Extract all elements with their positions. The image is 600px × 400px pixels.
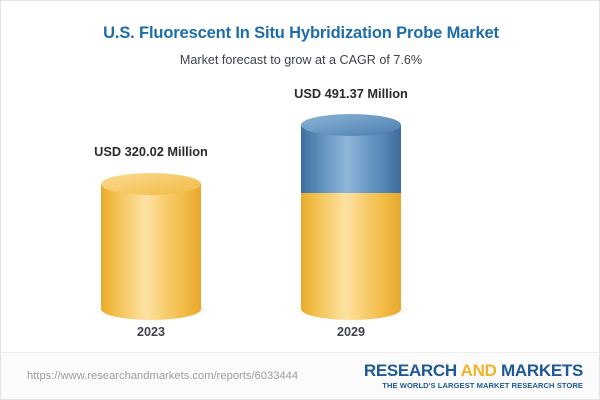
bar-value-label-2023: USD 320.02 Million — [76, 144, 226, 159]
logo-tagline: THE WORLD'S LARGEST MARKET RESEARCH STOR… — [364, 381, 583, 391]
bar-value-label-2029: USD 491.37 Million — [276, 86, 426, 101]
cylinder-base-ellipse-2023 — [101, 308, 201, 320]
cylinder-body-yellow-2029 — [301, 193, 401, 309]
cylinder-top-cap-2023 — [101, 173, 201, 195]
logo-word-markets: MARKETS — [501, 361, 583, 380]
cylinder-base-clip-2029 — [301, 308, 401, 321]
logo-word-and: AND — [457, 361, 501, 380]
cylinder-base-clip-2023 — [101, 308, 201, 321]
cylinder-top-cap-2029 — [301, 114, 401, 136]
cylinder-body-blue-2029 — [301, 125, 401, 193]
category-label-2023: 2023 — [76, 325, 226, 339]
cylinder-base-ellipse-2029 — [301, 308, 401, 320]
cylinder-2029[interactable] — [301, 125, 401, 309]
market-forecast-chart-card: U.S. Fluorescent In Situ Hybridization P… — [0, 0, 600, 400]
logo-word-research: RESEARCH — [364, 361, 457, 380]
cylinder-body-yellow-2023 — [101, 184, 201, 309]
chart-plot-area: USD 320.02 Million 2023 USD 491.37 Milli… — [1, 1, 600, 353]
chart-footer: https://www.researchandmarkets.com/repor… — [1, 352, 600, 399]
report-url[interactable]: https://www.researchandmarkets.com/repor… — [27, 370, 298, 382]
category-label-2029: 2029 — [276, 325, 426, 339]
research-and-markets-logo[interactable]: RESEARCH AND MARKETS THE WORLD'S LARGEST… — [364, 361, 583, 391]
cylinder-2023[interactable] — [101, 184, 201, 309]
logo-wordmark: RESEARCH AND MARKETS — [364, 361, 583, 380]
